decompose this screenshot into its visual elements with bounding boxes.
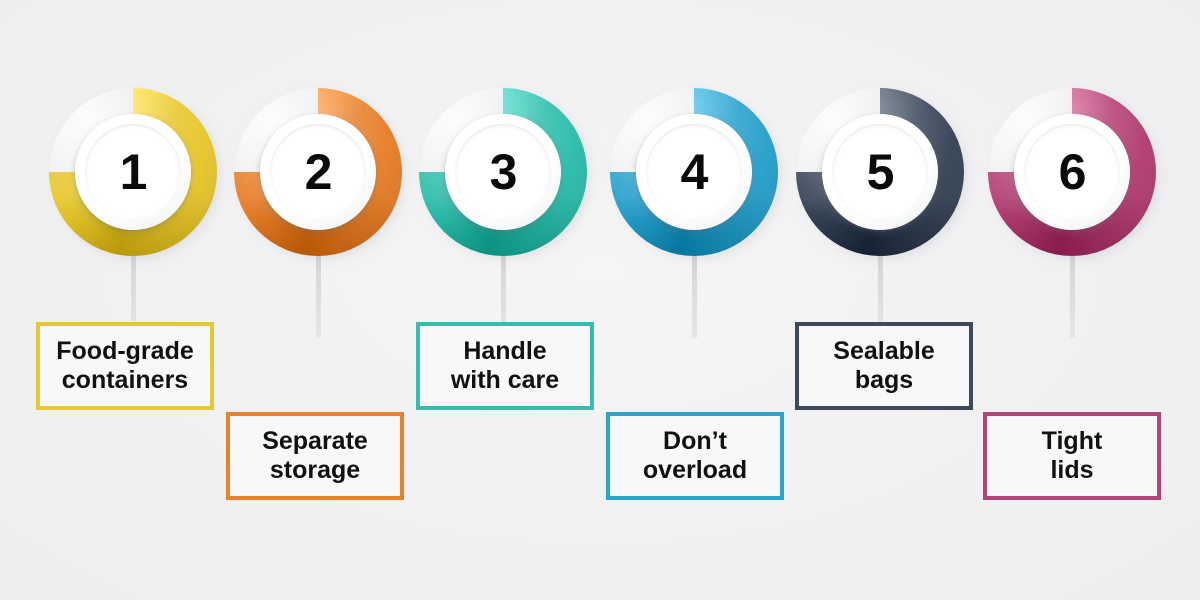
step-label-box-6[interactable]: Tight lids [983,412,1161,500]
step-label-text: Sealable bags [827,337,940,396]
step-label-box-5[interactable]: Sealable bags [795,322,973,410]
step-pin-5[interactable]: 5 [796,88,964,256]
step-pin-4[interactable]: 4 [610,88,778,256]
step-label-box-1[interactable]: Food-grade containers [36,322,214,410]
pin-number-plate: 4 [646,124,742,220]
pin-number-label: 5 [867,147,894,197]
step-label-box-4[interactable]: Don’t overload [606,412,784,500]
step-pin-3[interactable]: 3 [419,88,587,256]
step-pin-6[interactable]: 6 [988,88,1156,256]
pin-number-plate: 5 [832,124,928,220]
pin-number-plate: 1 [85,124,181,220]
step-label-text: Don’t overload [637,427,753,486]
pin-number-plate: 6 [1024,124,1120,220]
pin-number-label: 1 [120,147,147,197]
pin-number-label: 6 [1059,147,1086,197]
step-pin-2[interactable]: 2 [234,88,402,256]
pin-number-plate: 2 [270,124,366,220]
infographic-canvas: 1Food-grade containers2Separate storage3… [0,0,1200,600]
step-label-text: Separate storage [256,427,374,486]
step-label-box-3[interactable]: Handle with care [416,322,594,410]
pin-number-label: 3 [490,147,517,197]
pin-number-plate: 3 [455,124,551,220]
step-label-box-2[interactable]: Separate storage [226,412,404,500]
step-pin-1[interactable]: 1 [49,88,217,256]
step-label-text: Tight lids [1036,427,1109,486]
step-label-text: Food-grade containers [50,337,200,396]
step-label-text: Handle with care [445,337,565,396]
pin-number-label: 4 [681,147,708,197]
pin-number-label: 2 [305,147,332,197]
